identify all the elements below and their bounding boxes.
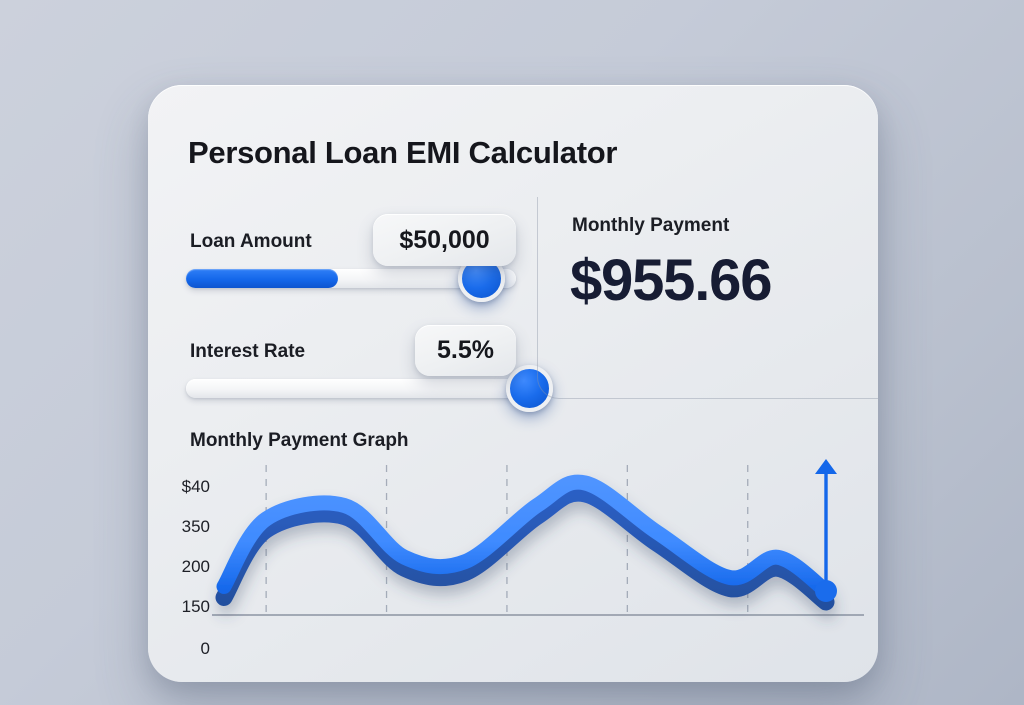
page-title: Personal Loan EMI Calculator bbox=[188, 135, 617, 171]
monthly-payment-chart bbox=[176, 457, 876, 657]
chart-trend-arrow-head bbox=[815, 459, 837, 474]
interest-rate-label: Interest Rate bbox=[190, 341, 305, 363]
chart-end-point-marker bbox=[815, 580, 837, 602]
graph-title: Monthly Payment Graph bbox=[190, 430, 409, 452]
loan-amount-slider-fill bbox=[186, 269, 338, 288]
emi-calculator-card: Personal Loan EMI Calculator Loan Amount… bbox=[148, 85, 878, 682]
monthly-payment-panel: Monthly Payment $955.66 bbox=[537, 197, 878, 399]
chart-svg bbox=[176, 457, 876, 657]
interest-rate-slider-track[interactable] bbox=[186, 379, 516, 398]
loan-amount-label: Loan Amount bbox=[190, 231, 312, 253]
monthly-payment-label: Monthly Payment bbox=[572, 215, 729, 237]
monthly-payment-amount: $955.66 bbox=[570, 247, 771, 314]
loan-amount-value-badge[interactable]: $50,000 bbox=[373, 214, 516, 266]
interest-rate-value-badge[interactable]: 5.5% bbox=[415, 325, 516, 376]
